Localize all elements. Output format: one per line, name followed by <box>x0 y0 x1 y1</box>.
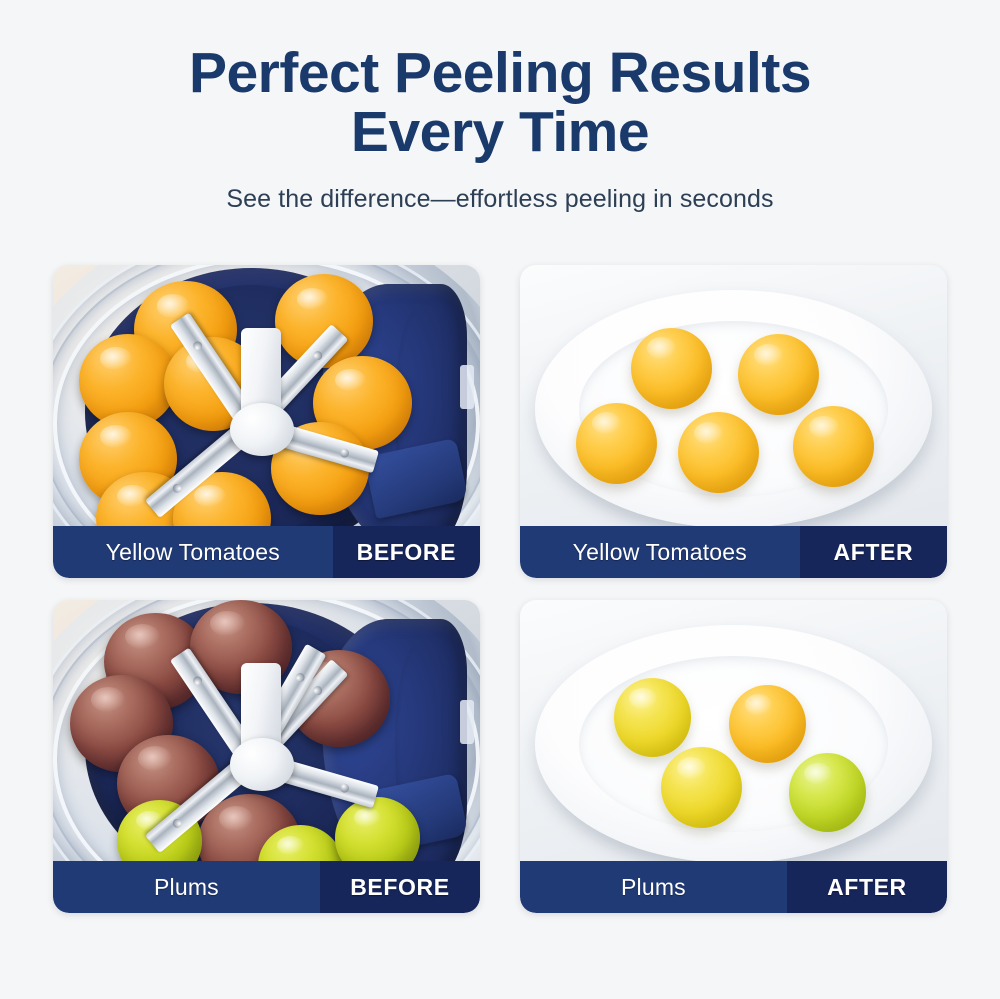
card-state-badge: BEFORE <box>320 861 480 913</box>
peeler-spout-slot <box>460 700 474 744</box>
card-state-badge: BEFORE <box>333 526 480 578</box>
card-label-bar: Plums AFTER <box>520 861 947 913</box>
fruit-item <box>661 747 742 828</box>
comparison-card-yellow-tomatoes-before[interactable]: Yellow Tomatoes BEFORE <box>53 265 480 578</box>
page-title-line-1: Perfect Peeling Results <box>0 44 1000 103</box>
card-label-bar: Yellow Tomatoes BEFORE <box>53 526 480 578</box>
card-fruit-name: Plums <box>520 861 787 913</box>
peeler-spout-slot <box>460 365 474 409</box>
fruit-item <box>789 753 866 831</box>
peeler-hub-ball <box>230 738 294 791</box>
comparison-card-plums-after[interactable]: Plums AFTER <box>520 600 947 913</box>
card-fruit-name: Yellow Tomatoes <box>53 526 333 578</box>
comparison-grid: Yellow Tomatoes BEFORE Yellow Tomatoes A… <box>53 265 947 913</box>
fruit-item <box>793 406 874 487</box>
page-subtitle: See the difference—effortless peeling in… <box>0 185 1000 214</box>
fruit-item <box>738 334 819 415</box>
fruit-item <box>576 403 657 484</box>
card-label-bar: Yellow Tomatoes AFTER <box>520 526 947 578</box>
page-header: Perfect Peeling Results Every Time See t… <box>0 0 1000 214</box>
card-state-badge: AFTER <box>800 526 947 578</box>
fruit-item <box>729 685 806 763</box>
page-title-line-2: Every Time <box>0 103 1000 162</box>
peeler-hub-ball <box>230 403 294 456</box>
page-title: Perfect Peeling Results Every Time <box>0 44 1000 163</box>
card-fruit-name: Yellow Tomatoes <box>520 526 800 578</box>
fruit-item <box>678 412 759 493</box>
fruit-item <box>631 328 712 409</box>
comparison-card-yellow-tomatoes-after[interactable]: Yellow Tomatoes AFTER <box>520 265 947 578</box>
card-fruit-name: Plums <box>53 861 320 913</box>
card-state-badge: AFTER <box>787 861 947 913</box>
card-label-bar: Plums BEFORE <box>53 861 480 913</box>
comparison-card-plums-before[interactable]: Plums BEFORE <box>53 600 480 913</box>
fruit-item <box>614 678 691 756</box>
